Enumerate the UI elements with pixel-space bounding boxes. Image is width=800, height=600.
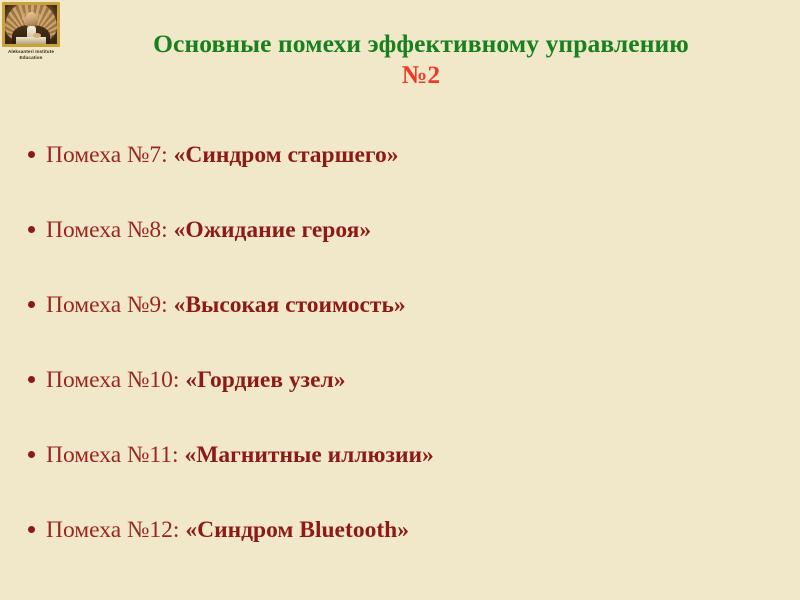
bullet-list: Помеха №7: «Синдром старшего» Помеха №8:… — [24, 140, 780, 590]
list-item: Помеха №12: «Синдром Bluetooth» — [24, 515, 780, 590]
bullet-dot-icon — [28, 526, 35, 533]
bullet-strong-text: «Ожидание героя» — [174, 217, 372, 243]
bullet-lead-text: Помеха №12: — [46, 517, 185, 543]
bullet-strong-text: «Магнитные иллюзии» — [184, 442, 433, 468]
bullet-lead-text: Помеха №9: — [46, 292, 174, 318]
title-main-text: Основные помехи эффективному управлению — [88, 28, 754, 59]
logo-caption-line2: Education — [2, 55, 60, 61]
list-item: Помеха №7: «Синдром старшего» — [24, 140, 780, 215]
logo-caption-line1: Aleksanteri Institute — [8, 49, 54, 54]
list-item: Помеха №11: «Магнитные иллюзии» — [24, 440, 780, 515]
bullet-dot-icon — [28, 226, 35, 233]
list-item: Помеха №10: «Гордиев узел» — [24, 365, 780, 440]
bullet-lead-text: Помеха №10: — [46, 367, 185, 393]
logo-block: Aleksanteri Institute Education — [2, 2, 64, 66]
bullet-dot-icon — [28, 301, 35, 308]
bullet-lead-text: Помеха №7: — [46, 142, 174, 168]
bullet-dot-icon — [28, 151, 35, 158]
bullet-strong-text: «Высокая стоимость» — [174, 292, 406, 318]
portrait-emblem-icon — [2, 2, 60, 47]
list-item: Помеха №8: «Ожидание героя» — [24, 215, 780, 290]
bullet-lead-text: Помеха №8: — [46, 217, 174, 243]
logo-caption: Aleksanteri Institute Education — [2, 49, 60, 61]
bullet-lead-text: Помеха №11: — [46, 442, 184, 468]
list-item: Помеха №9: «Высокая стоимость» — [24, 290, 780, 365]
bullet-dot-icon — [28, 451, 35, 458]
bullet-strong-text: «Синдром Bluetooth» — [185, 517, 409, 543]
title-sub-number: №2 — [88, 59, 754, 90]
bullet-dot-icon — [28, 376, 35, 383]
slide-canvas: Aleksanteri Institute Education Основные… — [0, 0, 800, 600]
bullet-strong-text: «Гордиев узел» — [185, 367, 345, 393]
bullet-strong-text: «Синдром старшего» — [174, 142, 399, 168]
slide-title: Основные помехи эффективному управлению … — [88, 28, 754, 90]
